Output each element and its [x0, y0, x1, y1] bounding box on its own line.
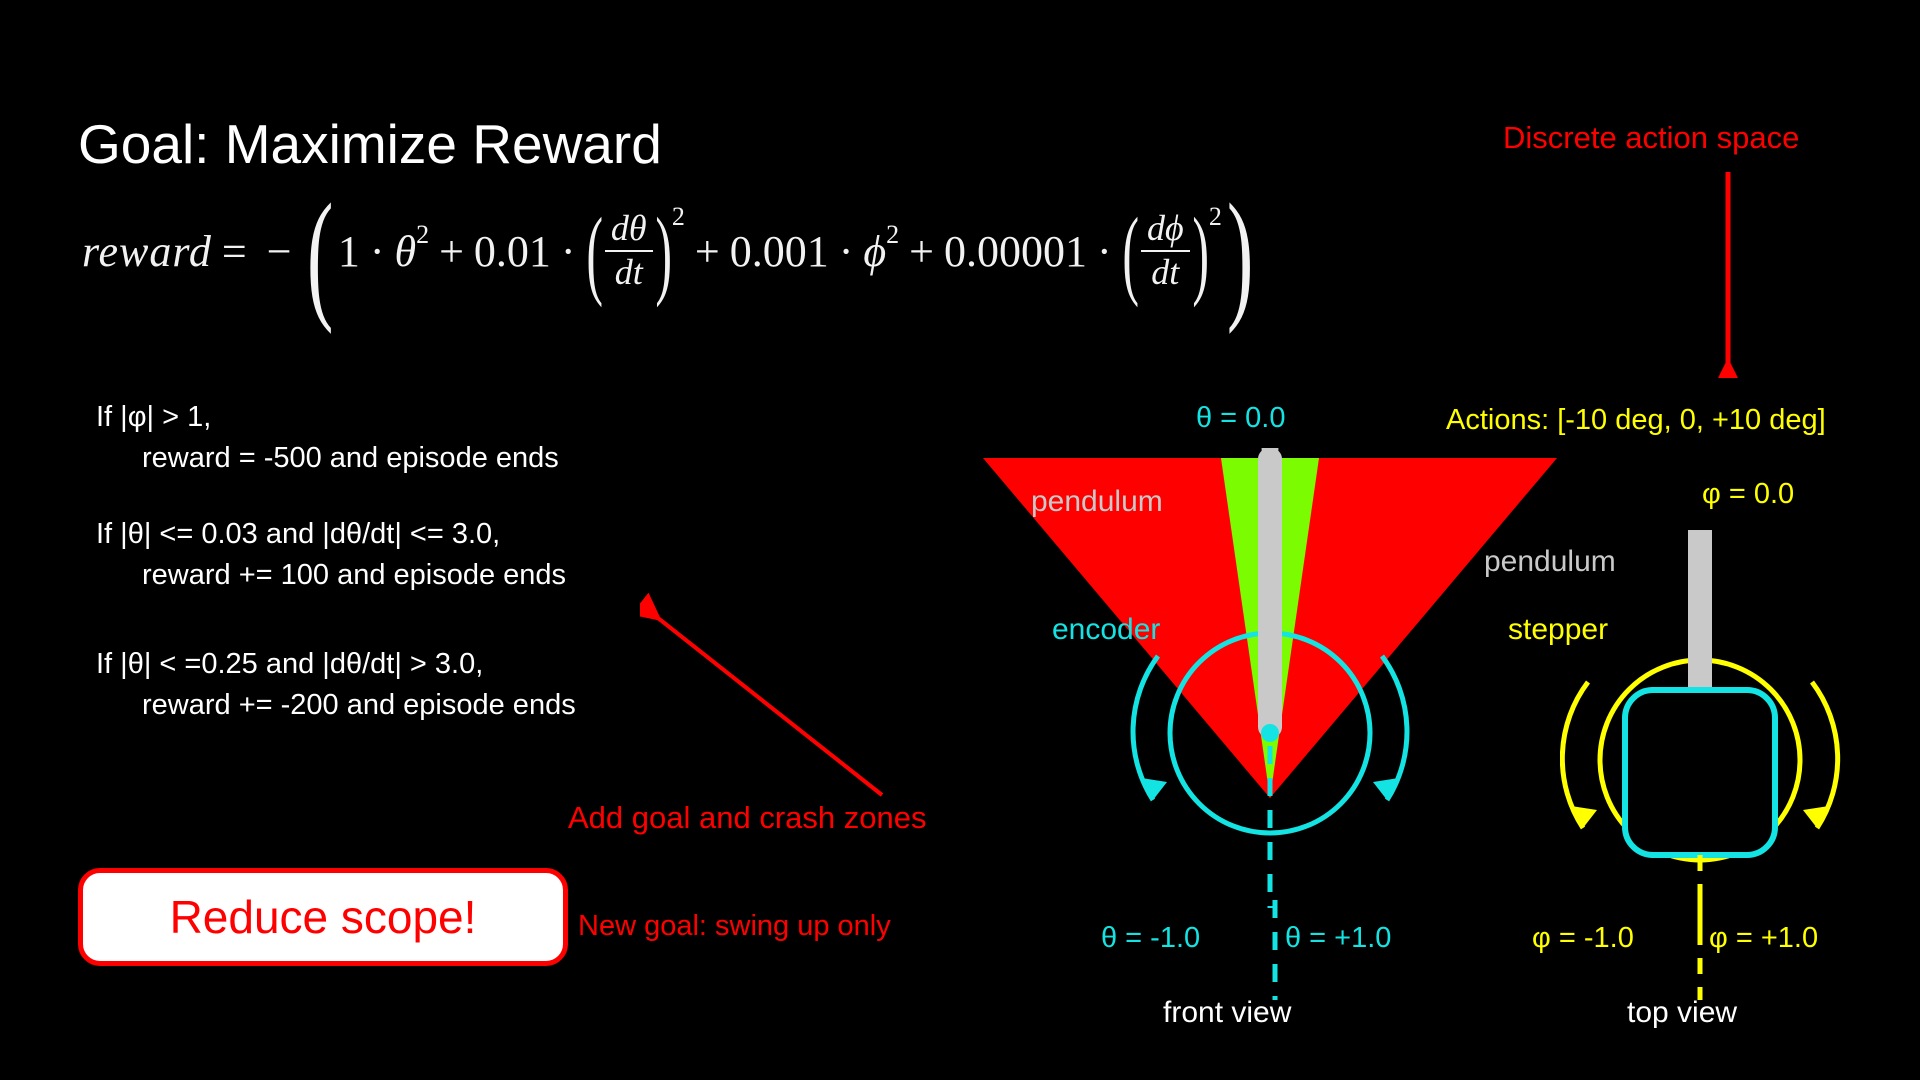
add-goal-crash-zones-arrows [640, 590, 930, 820]
formula-coef-4: 0.00001 [944, 226, 1087, 277]
front-view-pendulum-label: pendulum [1031, 485, 1163, 519]
formula-dphi-dt: dϕ dt [1141, 210, 1190, 292]
front-view-reference-line-lower [1270, 900, 1280, 1000]
formula-close-paren: ) [1227, 212, 1254, 299]
formula-dot-1: · [370, 226, 385, 277]
rule-consequence: reward = -500 and episode ends [96, 438, 559, 479]
reduce-scope-callout[interactable]: Reduce scope! [78, 868, 568, 966]
formula-dot-2: · [561, 226, 576, 277]
formula-open-paren: ( [306, 212, 333, 299]
formula-theta-1: θ [394, 226, 416, 277]
formula-dphi: dϕ [1141, 210, 1190, 250]
formula-equals: = [222, 226, 247, 277]
rule-consequence: reward += -200 and episode ends [96, 685, 576, 726]
formula-pow-1: 2 [416, 220, 429, 250]
rule-condition: If |θ| < =0.25 and |dθ/dt| > 3.0, [96, 644, 576, 685]
discrete-action-space-label: Discrete action space [1503, 120, 1799, 156]
front-view-theta-pos-label: θ = +1.0 [1285, 922, 1391, 955]
encoder-arc-left [1133, 656, 1158, 800]
formula-dtheta-dt: dθ dt [605, 210, 653, 292]
top-view-phi-neg-label: φ = -1.0 [1532, 922, 1634, 955]
rule-item-1: If |φ| > 1, reward = -500 and episode en… [96, 397, 559, 479]
formula-open-paren-2: ( [586, 223, 603, 283]
formula-phi-1: ϕ [863, 226, 886, 277]
rule-consequence: reward += 100 and episode ends [96, 555, 566, 596]
encoder-arc-right [1382, 656, 1407, 800]
formula-dot-3: · [839, 226, 854, 277]
rule-condition: If |φ| > 1, [96, 397, 559, 438]
discrete-action-space-arrow [1490, 168, 1790, 378]
actions-label: Actions: [-10 deg, 0, +10 deg] [1446, 404, 1826, 437]
top-view-pendulum-rod [1688, 530, 1712, 696]
formula-dt-1: dt [609, 252, 649, 292]
rule-item-3: If |θ| < =0.25 and |dθ/dt| > 3.0, reward… [96, 644, 576, 726]
formula-coef-3: 0.001 [730, 226, 829, 277]
front-view-theta-zero-label: θ = 0.0 [1196, 402, 1286, 435]
add-goal-crash-zones-label: Add goal and crash zones [568, 800, 926, 836]
long-red-arrow [658, 618, 882, 795]
top-view-reference-line-lower [1695, 900, 1705, 1000]
formula-dt-2: dt [1145, 252, 1185, 292]
formula-close-paren-3: ) [1192, 223, 1209, 283]
formula-dtheta: dθ [605, 210, 653, 250]
formula-plus-1: + [439, 226, 464, 277]
top-view-name-label: top view [1627, 996, 1737, 1030]
new-goal-label: New goal: swing up only [578, 910, 891, 943]
formula-open-paren-3: ( [1122, 223, 1139, 283]
stepper-body [1625, 690, 1775, 855]
reduce-scope-label: Reduce scope! [170, 890, 477, 944]
formula-close-paren-2: ) [655, 223, 672, 283]
formula-pow-2: 2 [672, 202, 685, 232]
rule-condition: If |θ| <= 0.03 and |dθ/dt| <= 3.0, [96, 514, 566, 555]
front-view-encoder-label: encoder [1052, 613, 1160, 647]
pendulum-rod [1258, 448, 1282, 738]
formula-coef-1: 1 [338, 226, 360, 277]
formula-coef-2: 0.01 [474, 226, 551, 277]
formula-dot-4: · [1097, 226, 1112, 277]
stepper-arc-right [1812, 682, 1838, 828]
formula-lhs: reward [82, 226, 212, 277]
top-view-phi-zero-label: φ = 0.0 [1702, 478, 1794, 511]
top-view-phi-pos-label: φ = +1.0 [1709, 922, 1818, 955]
front-view-theta-neg-label: θ = -1.0 [1101, 922, 1200, 955]
formula-plus-3: + [909, 226, 934, 277]
front-view-name-label: front view [1163, 996, 1291, 1030]
formula-pow-4: 2 [1209, 202, 1222, 232]
formula-plus-2: + [695, 226, 720, 277]
reward-formula: reward = − ( 1 · θ2 + 0.01 · ( dθ dt )2 … [82, 186, 1258, 316]
formula-pow-3: 2 [886, 220, 899, 250]
formula-minus: − [267, 226, 292, 277]
page-title: Goal: Maximize Reward [78, 112, 662, 176]
stepper-arc-left [1562, 682, 1588, 828]
rule-item-2: If |θ| <= 0.03 and |dθ/dt| <= 3.0, rewar… [96, 514, 566, 596]
top-view-diagram [1560, 530, 1920, 930]
pendulum-pivot [1261, 724, 1279, 742]
